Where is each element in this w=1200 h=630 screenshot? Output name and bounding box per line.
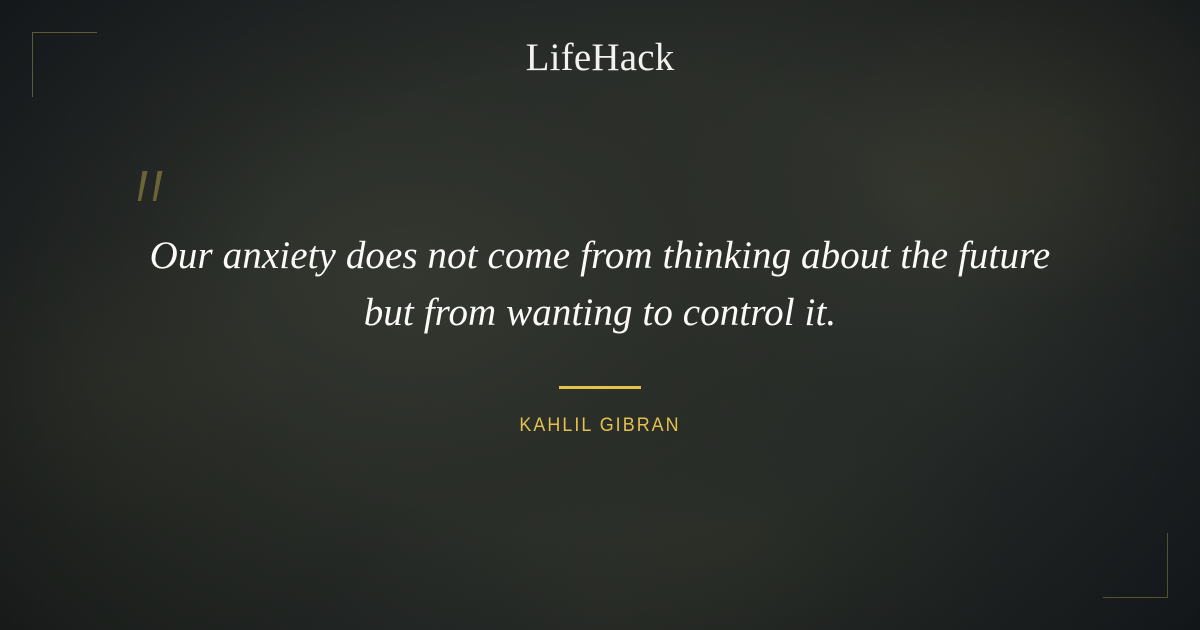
- double-quote-icon: [133, 171, 169, 211]
- divider-rule: [559, 386, 641, 389]
- quote-text: Our anxiety does not come from thinking …: [100, 227, 1100, 341]
- quote-card: LifeHack Our anxiety does not come from …: [0, 0, 1200, 630]
- quote-line-1: Our anxiety does not come from thinking …: [100, 227, 1100, 284]
- quote-block: Our anxiety does not come from thinking …: [0, 165, 1200, 437]
- quote-author: KAHLIL GIBRAN: [36, 415, 1164, 437]
- corner-bracket-bottom-right-icon: [1103, 533, 1168, 598]
- brand-header: LifeHack: [0, 38, 1200, 77]
- quote-line-2: but from wanting to control it.: [100, 284, 1100, 341]
- lifehack-logo[interactable]: LifeHack: [0, 38, 1200, 77]
